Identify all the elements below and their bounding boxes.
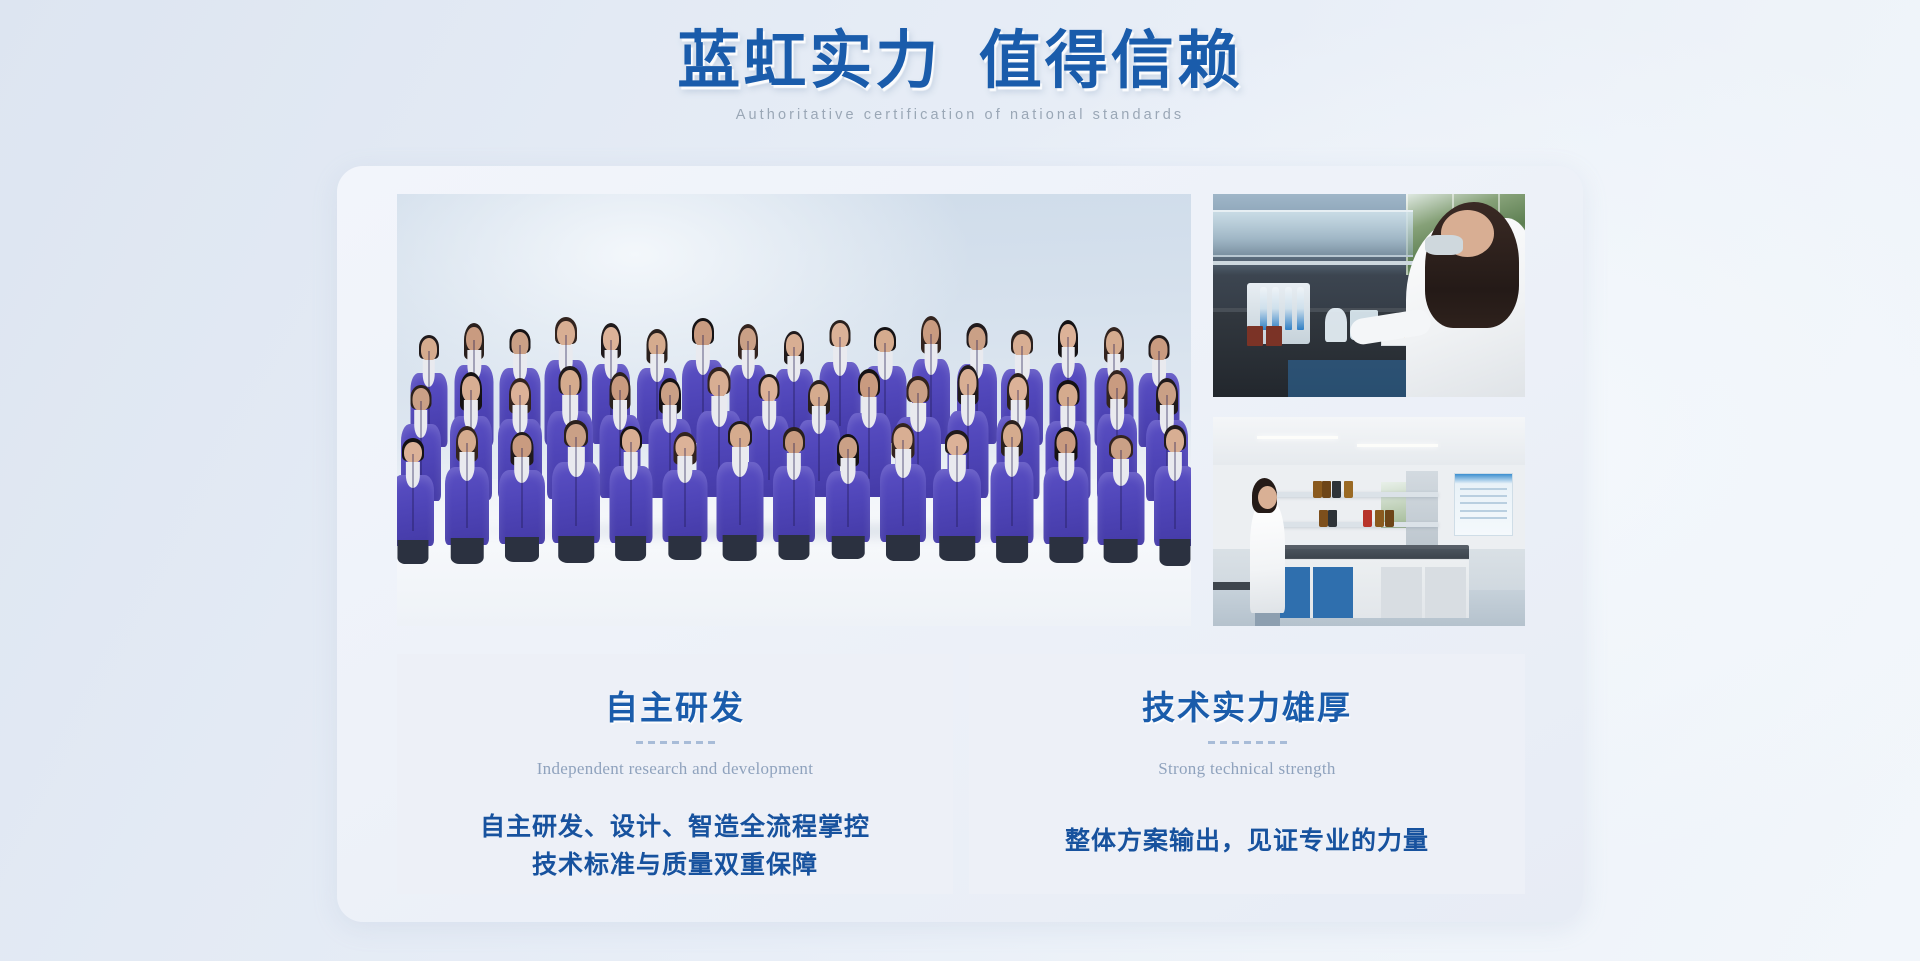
team-member	[880, 423, 926, 542]
team-member-legs	[1160, 539, 1191, 566]
lab-b-safety-poster	[1454, 473, 1512, 536]
team-member-legs	[722, 535, 757, 562]
content-panel: 自主研发 Independent research and developmen…	[337, 166, 1583, 922]
lab-b-reagent-bottle	[1328, 510, 1337, 527]
team-member	[445, 426, 489, 545]
feature-card-english-subtitle: Strong technical strength	[1158, 759, 1335, 779]
team-member-zipper	[956, 446, 958, 527]
lab-a-volumetric-flask	[1325, 308, 1347, 343]
team-member-zipper	[793, 347, 795, 428]
team-member-legs	[397, 540, 428, 564]
team-member	[609, 426, 652, 543]
lab-a-pipette	[1260, 287, 1267, 330]
lab-b-reagent-bottle	[1322, 481, 1331, 498]
team-member-zipper	[1174, 442, 1176, 529]
lab-b-reagent-bottle	[1363, 510, 1372, 527]
lab-b-reagent-bottle	[1375, 510, 1384, 527]
team-member-legs	[1050, 537, 1083, 563]
team-member	[826, 434, 870, 542]
lab-b-ceiling	[1213, 417, 1525, 465]
team-member-legs	[940, 536, 976, 561]
lab-b-reagent-bottle	[1344, 481, 1353, 498]
lab-a-scene	[1213, 194, 1525, 397]
team-member	[716, 421, 763, 542]
feature-card-english-subtitle: Independent research and development	[537, 759, 814, 779]
lab-b-island-cabinet	[1381, 567, 1422, 617]
team-member-zipper	[412, 454, 414, 532]
team-member-zipper	[818, 397, 820, 481]
feature-card-description: 自主研发、设计、智造全流程掌控 技术标准与质量双重保障	[480, 809, 870, 885]
laboratory-room-photo	[1213, 417, 1525, 626]
team-member-legs	[668, 536, 701, 560]
lab-b-island-cabinet	[1425, 567, 1466, 617]
lab-a-pipette	[1272, 287, 1279, 330]
lab-b-reagent-shelf	[1275, 492, 1437, 497]
lab-b-technician-body	[1250, 501, 1284, 614]
team-member	[933, 430, 981, 542]
team-member-legs	[558, 536, 594, 563]
team-member-zipper	[630, 442, 632, 526]
feature-card-list: 自主研发 Independent research and developmen…	[397, 654, 1525, 894]
team-member-zipper	[684, 448, 686, 527]
team-member	[499, 432, 545, 544]
feature-card-title: 自主研发	[605, 681, 745, 729]
lab-a-pipette	[1297, 287, 1304, 330]
team-member-zipper	[575, 437, 577, 526]
lab-b-island-cabinet	[1313, 567, 1354, 617]
team-member-zipper	[466, 443, 468, 529]
page-root: 蓝虹实力 值得信赖 Authoritative certification of…	[0, 0, 1920, 961]
team-member-legs	[615, 536, 647, 562]
lab-b-reagent-bottle	[1313, 481, 1322, 498]
page-subtitle: Authoritative certification of national …	[0, 107, 1920, 123]
lab-a-blue-cabinet	[1288, 360, 1413, 397]
section-heading: 蓝虹实力 值得信赖 Authoritative certification of…	[0, 24, 1920, 123]
team-member	[1044, 427, 1089, 544]
lab-a-pipette	[1285, 287, 1292, 330]
team-member-zipper	[1011, 437, 1013, 526]
feature-card-description: 整体方案输出，见证专业的力量	[1065, 823, 1429, 861]
team-member-legs	[1103, 539, 1138, 563]
team-member-zipper	[521, 448, 523, 529]
lab-a-reagent-bottle	[1266, 326, 1282, 346]
lab-b-reagent-bottle	[1319, 510, 1328, 527]
team-member-zipper	[739, 438, 741, 525]
team-member	[990, 420, 1033, 544]
media-gallery	[397, 194, 1525, 626]
team-member-legs	[505, 537, 539, 562]
lab-b-light-tube	[1357, 444, 1438, 447]
team-member-zipper	[793, 443, 795, 525]
lab-b-light-tube	[1257, 436, 1338, 439]
team-member	[1154, 425, 1191, 546]
team-member-legs	[778, 535, 809, 560]
company-team-group-photo	[397, 194, 1191, 626]
lab-a-technician-face-mask	[1425, 235, 1462, 255]
team-member-legs	[996, 536, 1028, 563]
lab-technician-pipetting-photo	[1213, 194, 1525, 397]
lab-b-scene	[1213, 417, 1525, 626]
lab-b-reagent-bottle	[1332, 481, 1341, 498]
lab-b-reagent-shelf	[1275, 522, 1437, 527]
feature-card-technical-strength: 技术实力雄厚 Strong technical strength 整体方案输出，…	[969, 654, 1525, 894]
team-member-legs	[886, 535, 920, 561]
dashed-divider-icon	[636, 741, 715, 744]
team-member-zipper	[1065, 444, 1067, 528]
team-member	[663, 432, 708, 542]
feature-card-title: 技术实力雄厚	[1142, 681, 1352, 729]
team-member-legs	[451, 538, 484, 564]
team-member-legs	[832, 536, 865, 560]
lab-a-glass-shelf	[1213, 210, 1413, 257]
lab-a-rail	[1213, 261, 1438, 265]
team-member-zipper	[768, 391, 770, 480]
feature-card-independent-rnd: 自主研发 Independent research and developmen…	[397, 654, 953, 894]
team-photo-people	[397, 313, 1191, 538]
team-member-zipper	[1120, 450, 1122, 529]
page-title: 蓝虹实力 值得信赖	[0, 24, 1920, 98]
team-member-zipper	[902, 440, 904, 526]
lab-b-reagent-bottle	[1385, 510, 1394, 527]
team-member	[397, 438, 434, 546]
dashed-divider-icon	[1208, 741, 1287, 744]
team-member	[1097, 435, 1144, 545]
team-member	[552, 420, 600, 544]
lab-b-technician-head	[1258, 486, 1277, 509]
lab-a-reagent-bottle	[1247, 326, 1263, 346]
team-member	[773, 427, 815, 542]
team-member-zipper	[847, 449, 849, 527]
